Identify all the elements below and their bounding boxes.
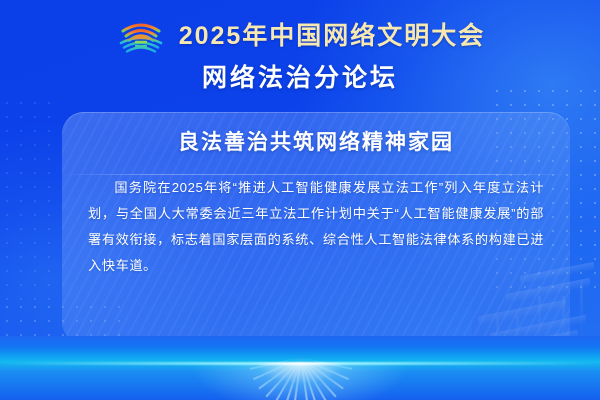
title-row: 2025年中国网络文明大会 xyxy=(115,16,486,56)
poster-canvas: 2025年中国网络文明大会 网络法治分论坛 良法善治共筑网络精神家园 国务院在2… xyxy=(0,0,600,400)
poster-header: 2025年中国网络文明大会 网络法治分论坛 xyxy=(0,0,600,104)
pavilion-gate-logo-icon xyxy=(115,16,167,56)
conference-main-title: 2025年中国网络文明大会 xyxy=(179,24,486,49)
content-card: 良法善治共筑网络精神家园 国务院在2025年将“推进人工智能健康发展立法工作”列… xyxy=(62,112,570,344)
forum-sub-title: 网络法治分论坛 xyxy=(202,66,398,91)
card-heading: 良法善治共筑网络精神家园 xyxy=(62,130,570,155)
dot-grid-pattern-left-upper xyxy=(0,96,62,306)
card-body-paragraph: 国务院在2025年将“推进人工智能健康发展立法工作”列入年度立法计划，与全国人大… xyxy=(88,175,544,279)
horizon-light-burst xyxy=(0,336,600,400)
